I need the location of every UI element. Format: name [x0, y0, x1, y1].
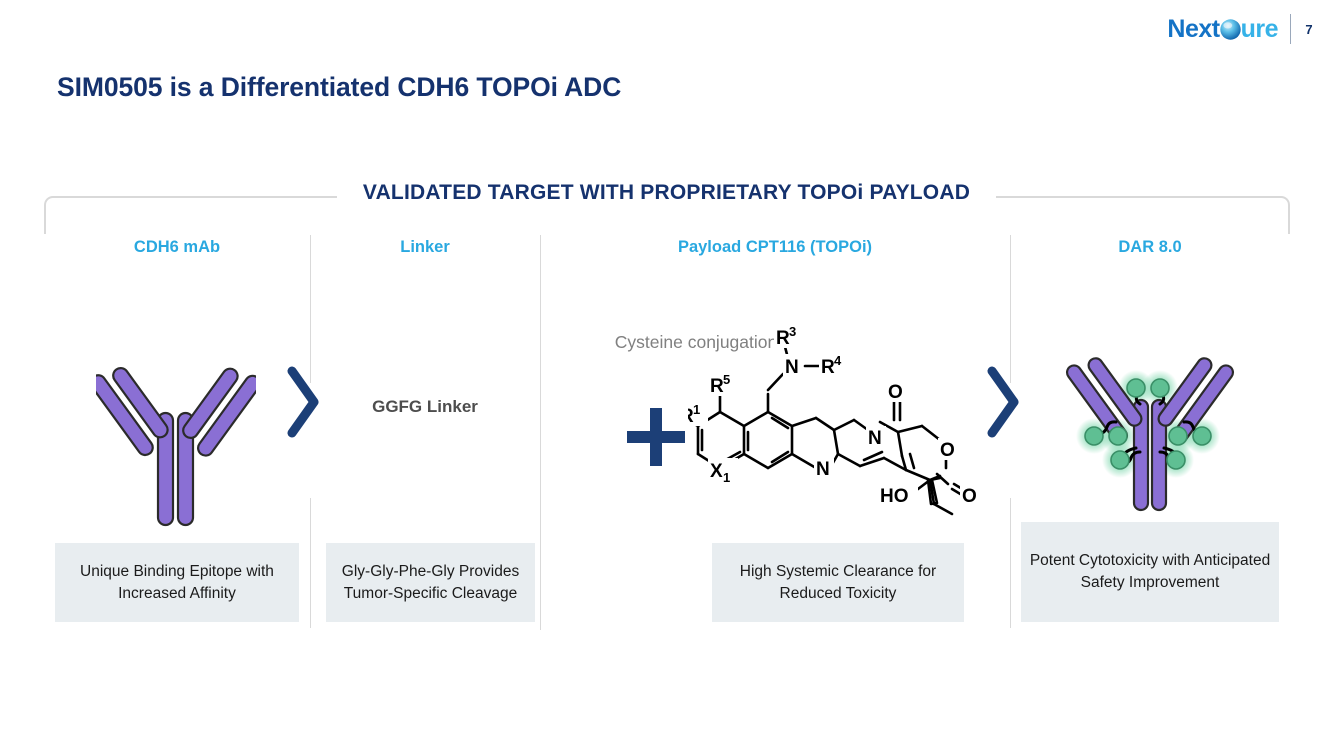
- slide-root: Next ure 7 SIM0505 is a Differentiated C…: [0, 0, 1333, 749]
- chem-label-n-amine: N: [785, 357, 799, 378]
- section-header: VALIDATED TARGET WITH PROPRIETARY TOPOi …: [0, 181, 1333, 205]
- chem-label-r5: R: [710, 376, 724, 397]
- column-dar: DAR 8.0: [1010, 230, 1290, 630]
- chevron-right-icon-1: [282, 365, 322, 444]
- caption-mab: Unique Binding Epitope with Increased Af…: [55, 543, 299, 622]
- brand-logo: Next ure 7: [1167, 14, 1315, 44]
- column-payload: Payload CPT116 (TOPOi) Cysteine conjugat…: [540, 230, 1010, 630]
- section-header-label: VALIDATED TARGET WITH PROPRIETARY TOPOi …: [337, 181, 996, 204]
- chem-label-r4-sup: 4: [834, 353, 842, 368]
- ggfg-linker-label: GGFG Linker: [310, 397, 540, 417]
- logo-cure-text: ure: [1241, 15, 1278, 43]
- caption-linker: Gly-Gly-Phe-Gly Provides Tumor-Specific …: [326, 543, 535, 622]
- chem-label-r3: R: [776, 328, 790, 349]
- chem-label-o-ketone: O: [888, 382, 903, 403]
- chem-label-x1-sub: 1: [723, 470, 730, 485]
- chem-label-x1: X: [710, 461, 723, 482]
- plus-icon: [624, 405, 688, 474]
- antibody-with-payloads-icon: [1056, 348, 1251, 538]
- chem-label-ho: HO: [880, 486, 909, 507]
- column-heading-dar: DAR 8.0: [1010, 238, 1290, 257]
- caption-payload: High Systemic Clearance for Reduced Toxi…: [712, 543, 964, 622]
- chem-label-n-lactam: N: [868, 428, 882, 449]
- columns-container: CDH6 mAb Unique Binding Epitope with Inc…: [44, 230, 1290, 630]
- page-title: SIM0505 is a Differentiated CDH6 TOPOi A…: [57, 72, 621, 103]
- logo-wordmark: Next ure: [1167, 17, 1278, 42]
- column-linker: Linker GGFG Linker Gly-Gly-Phe-Gly Provi…: [310, 230, 540, 630]
- chevron-right-icon-2: [982, 365, 1022, 444]
- chem-label-r1-sup: 1: [693, 402, 700, 417]
- page-number: 7: [1303, 22, 1315, 37]
- column-heading-linker: Linker: [310, 238, 540, 257]
- logo-sphere-icon: [1220, 19, 1241, 40]
- column-heading-payload: Payload CPT116 (TOPOi): [540, 238, 1010, 257]
- antibody-icon: [96, 358, 256, 538]
- chem-label-r3-sup: 3: [789, 324, 796, 339]
- logo-divider: [1290, 14, 1291, 44]
- chem-label-r5-sup: 5: [723, 372, 730, 387]
- chem-label-o-lactone: O: [940, 440, 955, 461]
- chemical-structure-cpt116: R 3 N R 4 R 5 R 1 X: [688, 308, 1003, 528]
- chem-label-n-pyridine: N: [816, 459, 830, 480]
- chem-label-r4: R: [821, 357, 835, 378]
- column-cdh6-mab: CDH6 mAb Unique Binding Epitope with Inc…: [44, 230, 310, 630]
- column-heading-mab: CDH6 mAb: [44, 238, 310, 257]
- logo-next-text: Next: [1167, 15, 1219, 43]
- chem-label-o-carbonyl: O: [962, 486, 977, 507]
- caption-dar: Potent Cytotoxicity with Anticipated Saf…: [1021, 522, 1279, 622]
